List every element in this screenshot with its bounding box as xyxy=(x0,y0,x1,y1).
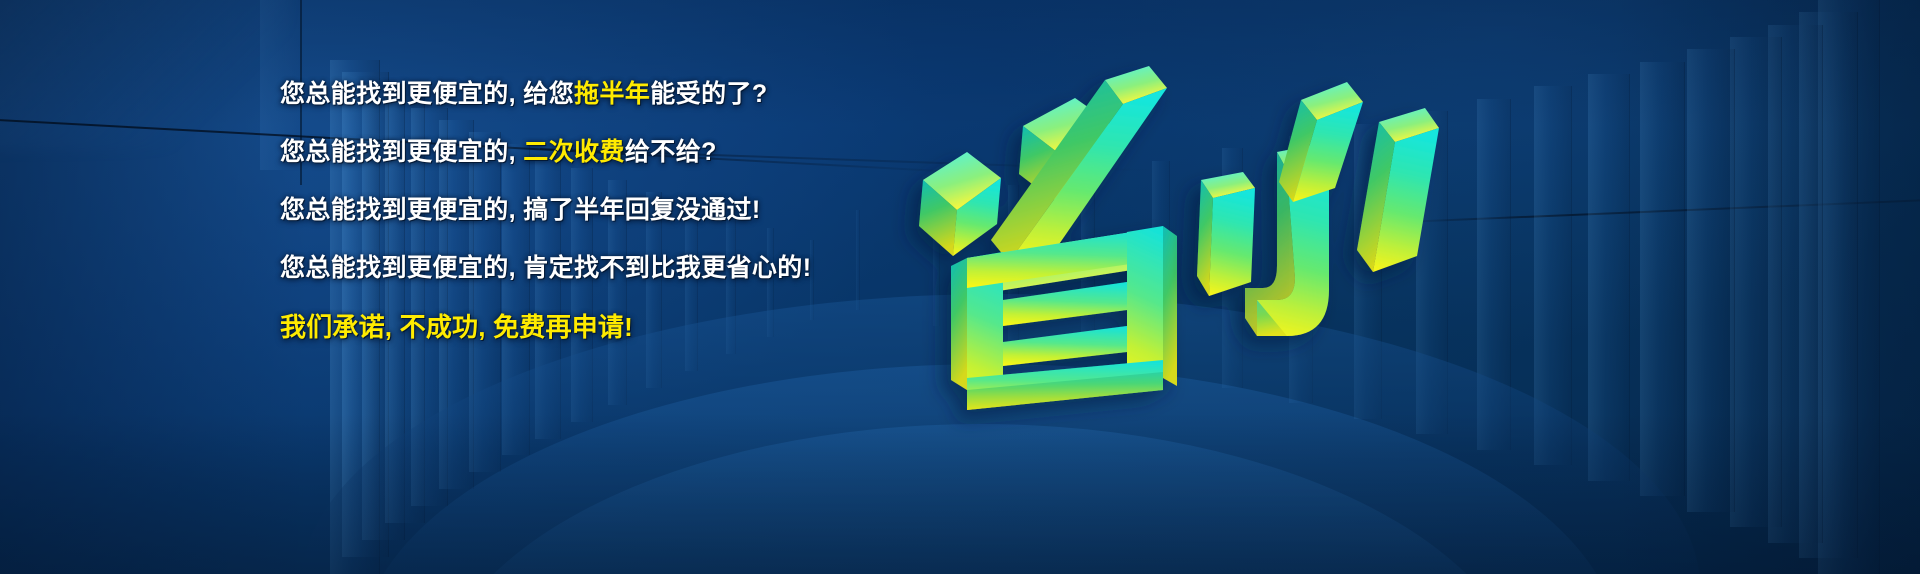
background-column xyxy=(1687,49,1735,511)
wall-panel-upper-left xyxy=(0,0,290,150)
copy-line-2-highlight: 二次收费 xyxy=(523,138,625,166)
logo-shengxin-3d xyxy=(905,60,1465,410)
copy-line-4-pre: 您总能找到更便宜的, 肯定找不到比我更省心的! xyxy=(280,254,811,282)
copy-promise-line: 我们承诺, 不成功, 免费再申请! xyxy=(280,314,900,340)
copy-line-2: 您总能找到更便宜的, 二次收费给不给? xyxy=(280,140,900,165)
background-column xyxy=(1818,0,1880,574)
promo-banner: 您总能找到更便宜的, 给您拖半年能受的了? 您总能找到更便宜的, 二次收费给不给… xyxy=(0,0,1920,574)
background-column xyxy=(1534,86,1572,465)
marketing-copy-block: 您总能找到更便宜的, 给您拖半年能受的了? 您总能找到更便宜的, 二次收费给不给… xyxy=(280,82,900,340)
background-column xyxy=(1640,62,1685,497)
background-column xyxy=(1768,25,1823,543)
floor-plateau-3 xyxy=(430,424,1530,574)
background-column xyxy=(1588,74,1630,481)
copy-line-1: 您总能找到更便宜的, 给您拖半年能受的了? xyxy=(280,82,900,107)
copy-line-1-highlight: 拖半年 xyxy=(574,80,650,108)
logo-glyph-xin xyxy=(1197,82,1439,336)
copy-line-3: 您总能找到更便宜的, 搞了半年回复没通过! xyxy=(280,198,900,223)
copy-line-4: 您总能找到更便宜的, 肯定找不到比我更省心的! xyxy=(280,256,900,281)
background-column xyxy=(1799,12,1858,558)
background-column xyxy=(1730,37,1782,527)
copy-line-2-post: 给不给? xyxy=(625,138,717,166)
logo-glyph-sheng xyxy=(919,66,1177,410)
copy-line-2-pre: 您总能找到更便宜的, xyxy=(280,138,523,166)
copy-line-1-post: 能受的了? xyxy=(650,80,767,108)
copy-line-3-pre: 您总能找到更便宜的, 搞了半年回复没通过! xyxy=(280,196,761,224)
copy-line-1-pre: 您总能找到更便宜的, 给您 xyxy=(280,80,574,108)
background-column xyxy=(1477,99,1512,450)
